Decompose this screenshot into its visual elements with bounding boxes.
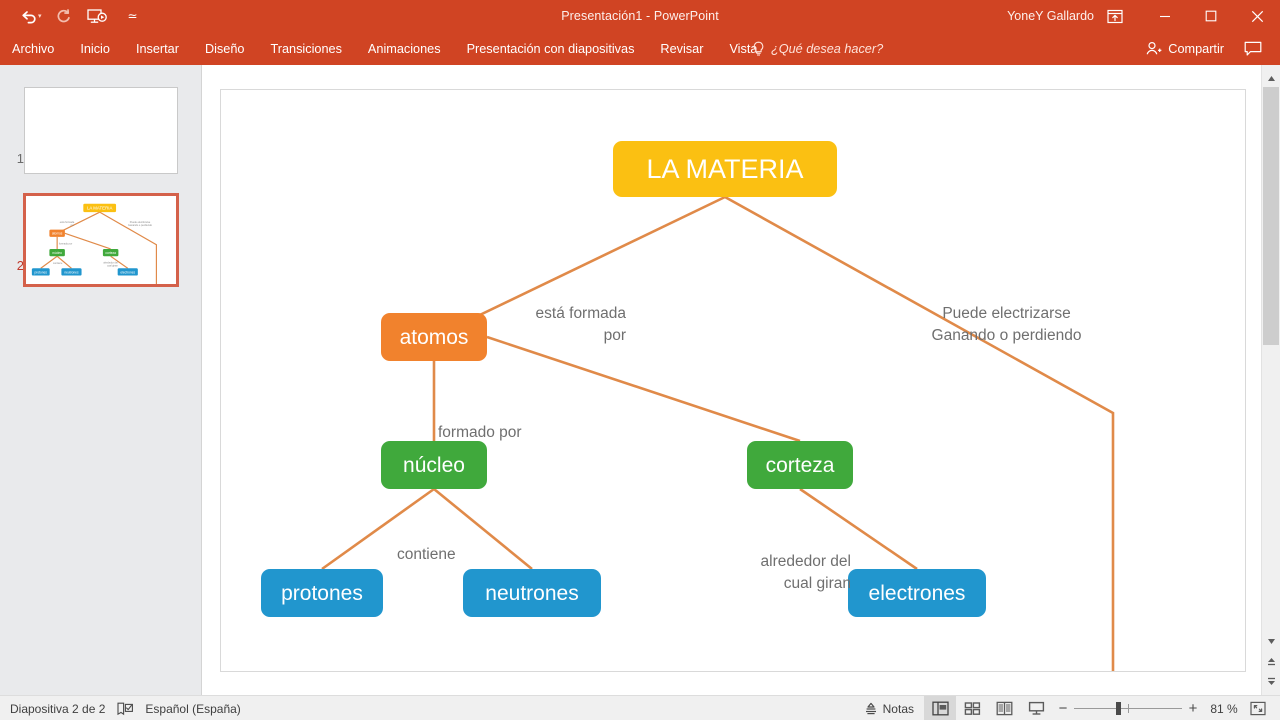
- node-atomos-label: atomos: [400, 327, 469, 348]
- scroll-down-arrow-icon[interactable]: [1262, 632, 1280, 650]
- comment-icon[interactable]: [1244, 32, 1262, 65]
- node-protones-label: protones: [281, 583, 363, 604]
- tab-diseno[interactable]: Diseño: [192, 32, 258, 65]
- lightbulb-icon: [752, 41, 765, 57]
- label-alrededor-del-cual-giran[interactable]: alrededor del cual giran: [726, 551, 851, 596]
- slide-counter[interactable]: Diapositiva 2 de 2: [10, 702, 105, 716]
- label-puede-electrizarse-line1: Puede electrizarse: [914, 303, 1099, 325]
- thumbnail-canvas-2[interactable]: LA MATERIA atomos núcleo corteza protone…: [23, 193, 179, 287]
- title-bar: ▾ ≃ Presentación1 - PowerPoint YoneY Gal…: [0, 0, 1280, 32]
- label-alrededor-del-cual-giran-line2: cual giran: [726, 573, 851, 595]
- node-atomos[interactable]: atomos: [381, 313, 487, 361]
- label-contiene[interactable]: contiene: [397, 544, 497, 566]
- notes-icon: [864, 702, 878, 716]
- slide-canvas[interactable]: LA MATERIA atomos núcleo corteza protone…: [220, 89, 1246, 672]
- node-electrones-label: electrones: [869, 583, 966, 604]
- svg-text:protones: protones: [35, 270, 48, 274]
- svg-text:cual giran: cual giran: [107, 265, 118, 268]
- minimize-button[interactable]: [1142, 0, 1188, 32]
- thumbnail-diagram-2: LA MATERIA atomos núcleo corteza protone…: [26, 196, 176, 284]
- person-add-icon: [1146, 41, 1162, 56]
- slideshow-view-button[interactable]: [1020, 696, 1052, 720]
- tab-presentacion-con-diapositivas[interactable]: Presentación con diapositivas: [454, 32, 648, 65]
- tab-inicio[interactable]: Inicio: [67, 32, 123, 65]
- label-esta-formada-por-line1: está formada: [496, 303, 626, 325]
- tab-transiciones[interactable]: Transiciones: [257, 32, 354, 65]
- svg-text:neutrones: neutrones: [64, 270, 79, 274]
- status-bar: Diapositiva 2 de 2 Español (España) Nota…: [0, 695, 1280, 720]
- label-alrededor-del-cual-giran-line1: alrededor del: [726, 551, 851, 573]
- ribbon-tab-bar: Archivo Inicio Insertar Diseño Transicio…: [0, 32, 1280, 65]
- tab-revisar[interactable]: Revisar: [647, 32, 716, 65]
- thumbnail-number-1: 1: [6, 151, 24, 166]
- tab-insertar[interactable]: Insertar: [123, 32, 192, 65]
- ribbon-display-options-icon[interactable]: [1098, 0, 1132, 32]
- svg-text:electrones: electrones: [120, 270, 135, 274]
- svg-text:atomos: atomos: [52, 232, 63, 236]
- fit-slide-to-window-button[interactable]: [1244, 701, 1272, 716]
- tab-animaciones[interactable]: Animaciones: [355, 32, 454, 65]
- thumbnail-canvas-1[interactable]: [24, 87, 178, 174]
- tell-me-search[interactable]: ¿Qué desea hacer?: [752, 32, 883, 65]
- share-button[interactable]: Compartir: [1146, 32, 1224, 65]
- node-protones[interactable]: protones: [261, 569, 383, 617]
- next-slide-button-icon[interactable]: [1262, 671, 1280, 689]
- zoom-slider[interactable]: [1074, 696, 1182, 720]
- vertical-scrollbar[interactable]: [1261, 65, 1280, 695]
- reading-view-button[interactable]: [988, 696, 1020, 720]
- node-neutrones[interactable]: neutrones: [463, 569, 601, 617]
- label-formado-por-line1: formado por: [438, 422, 568, 444]
- svg-text:corteza: corteza: [105, 251, 116, 255]
- language-indicator[interactable]: Español (España): [145, 702, 240, 716]
- status-right-group: Notas − + 81 %: [854, 696, 1272, 720]
- svg-text:por: por: [71, 224, 75, 227]
- tab-archivo[interactable]: Archivo: [0, 32, 67, 65]
- notes-button[interactable]: Notas: [854, 696, 924, 720]
- zoom-slider-thumb[interactable]: [1116, 702, 1121, 715]
- label-puede-electrizarse-line2: Ganando o perdiendo: [914, 325, 1099, 347]
- zoom-out-button[interactable]: −: [1052, 700, 1074, 717]
- svg-text:está formada: está formada: [60, 221, 75, 224]
- close-button[interactable]: [1234, 0, 1280, 32]
- node-electrones[interactable]: electrones: [848, 569, 986, 617]
- svg-text:formado por: formado por: [59, 242, 73, 245]
- scrollbar-thumb[interactable]: [1263, 87, 1279, 345]
- svg-text:núcleo: núcleo: [52, 251, 62, 255]
- thumbnail-number-2: 2: [6, 258, 24, 273]
- label-esta-formada-por-line2: por: [496, 325, 626, 347]
- status-left-group: Diapositiva 2 de 2 Español (España): [10, 696, 241, 720]
- label-formado-por[interactable]: formado por: [438, 422, 568, 444]
- share-label: Compartir: [1168, 42, 1224, 56]
- label-puede-electrizarse[interactable]: Puede electrizarse Ganando o perdiendo: [914, 303, 1099, 348]
- node-neutrones-label: neutrones: [485, 583, 578, 604]
- svg-text:alrededor del: alrededor del: [103, 262, 118, 265]
- node-nucleo-label: núcleo: [403, 455, 465, 476]
- svg-text:contiene: contiene: [53, 262, 63, 265]
- tell-me-placeholder: ¿Qué desea hacer?: [771, 42, 883, 56]
- slide-thumbnails-pane: 1 2: [0, 65, 202, 695]
- window-controls: [1142, 0, 1280, 32]
- zoom-level-label[interactable]: 81 %: [1204, 702, 1244, 716]
- scroll-up-arrow-icon[interactable]: [1262, 69, 1280, 87]
- svg-text:LA MATERIA: LA MATERIA: [87, 205, 112, 210]
- slide-editing-area: LA MATERIA atomos núcleo corteza protone…: [203, 65, 1261, 695]
- ribbon-tabs: Archivo Inicio Insertar Diseño Transicio…: [0, 32, 770, 65]
- account-name[interactable]: YoneY Gallardo: [1007, 0, 1094, 32]
- node-la-materia-label: LA MATERIA: [646, 156, 803, 183]
- svg-text:Ganando o perdiendo: Ganando o perdiendo: [128, 224, 153, 227]
- node-corteza[interactable]: corteza: [747, 441, 853, 489]
- notes-label: Notas: [883, 702, 914, 716]
- node-corteza-label: corteza: [766, 455, 835, 476]
- label-esta-formada-por[interactable]: está formada por: [496, 303, 626, 348]
- previous-slide-button-icon[interactable]: [1262, 653, 1280, 671]
- slide-sorter-view-button[interactable]: [956, 696, 988, 720]
- normal-view-button[interactable]: [924, 696, 956, 720]
- node-nucleo[interactable]: núcleo: [381, 441, 487, 489]
- zoom-control: − + 81 %: [1052, 696, 1272, 720]
- powerpoint-window: ▾ ≃ Presentación1 - PowerPoint YoneY Gal…: [0, 0, 1280, 720]
- label-contiene-line1: contiene: [397, 544, 497, 566]
- maximize-button[interactable]: [1188, 0, 1234, 32]
- zoom-slider-center-tick: [1128, 704, 1129, 713]
- node-la-materia[interactable]: LA MATERIA: [613, 141, 837, 197]
- zoom-in-button[interactable]: +: [1182, 700, 1204, 717]
- spellcheck-icon[interactable]: [117, 702, 133, 716]
- svg-text:Puede electrizarse: Puede electrizarse: [130, 221, 151, 224]
